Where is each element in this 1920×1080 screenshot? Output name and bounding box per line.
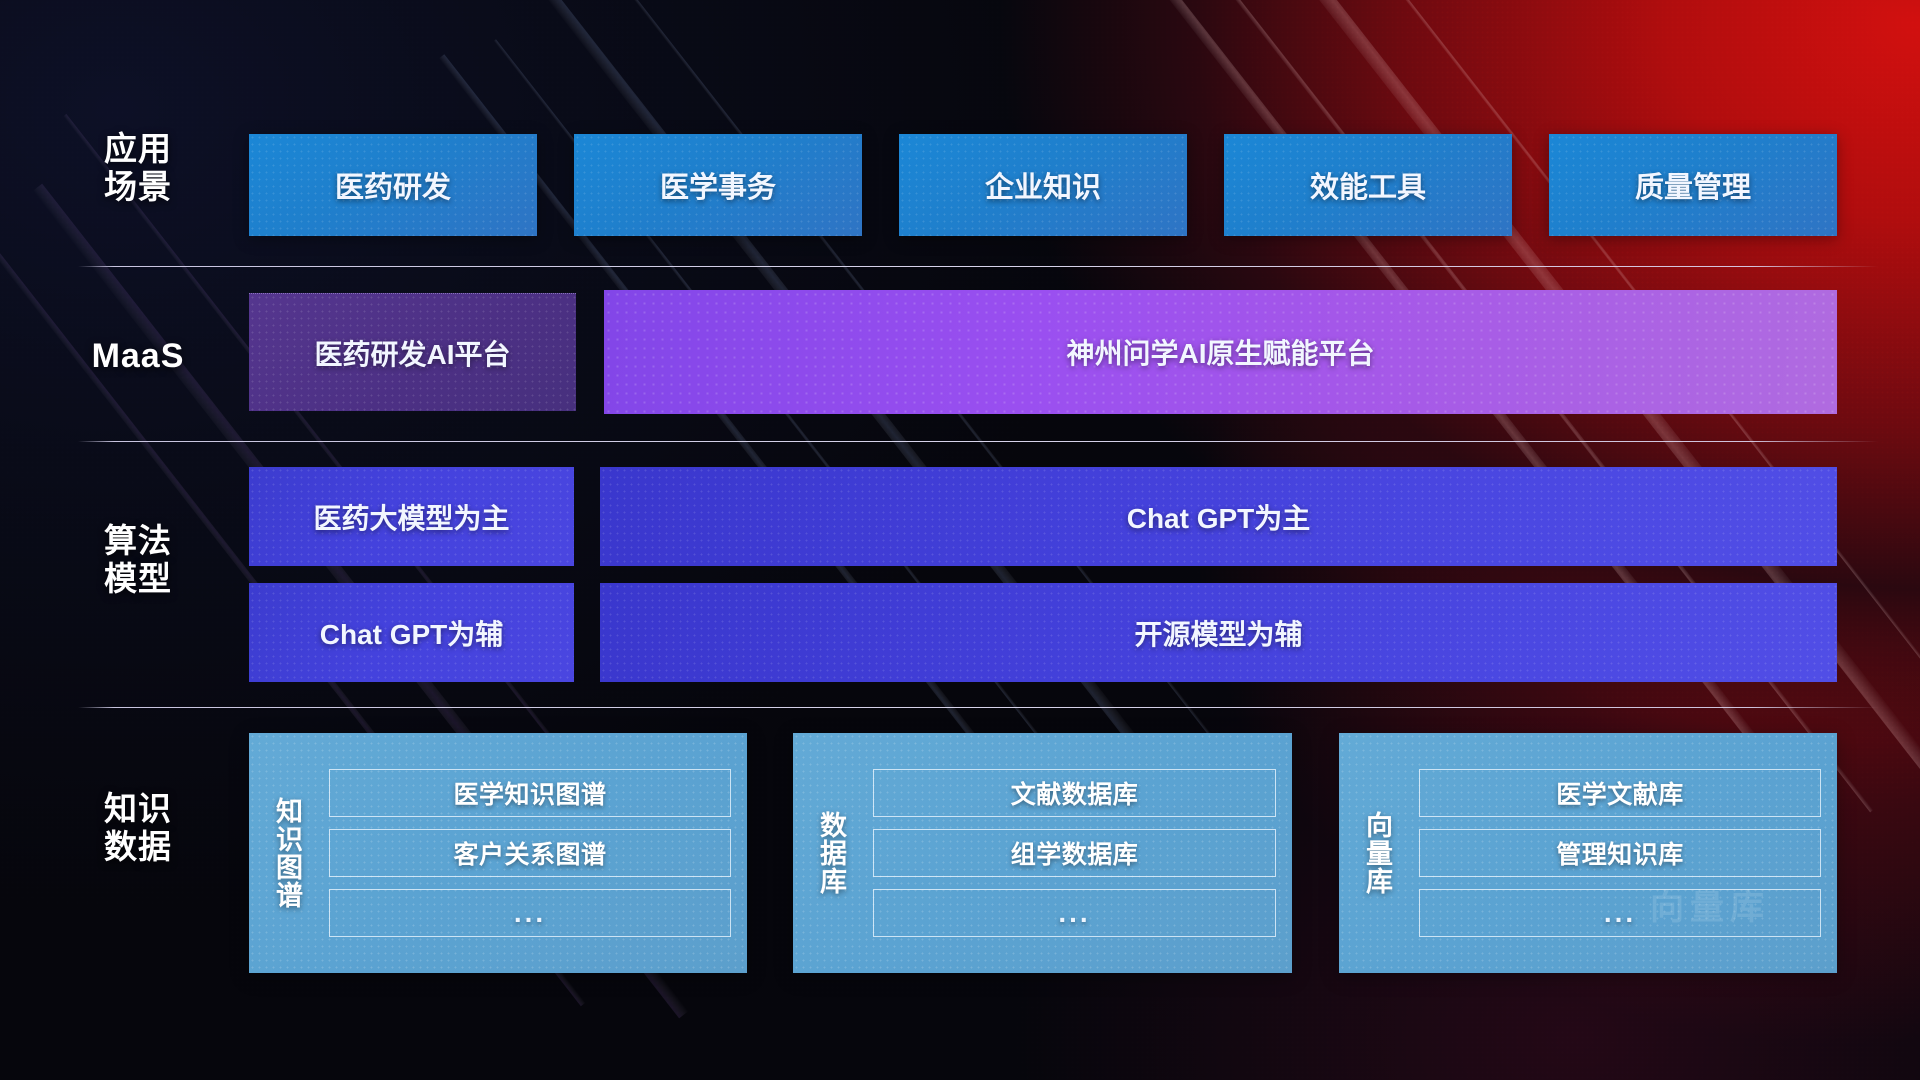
knowledge-group-items: 医学知识图谱 客户关系图谱 ... bbox=[323, 733, 747, 973]
knowledge-group-items: 医学文献库 管理知识库 ... bbox=[1413, 733, 1837, 973]
algo-box-drug-large-model-primary[interactable]: 医药大模型为主 bbox=[249, 467, 574, 566]
knowledge-item[interactable]: 客户关系图谱 bbox=[329, 829, 731, 877]
app-box-label: 医学事务 bbox=[660, 164, 776, 206]
algo-box-chatgpt-primary[interactable]: Chat GPT为主 bbox=[600, 467, 1837, 566]
knowledge-group-database[interactable]: 数据库 文献数据库 组学数据库 ... bbox=[793, 733, 1292, 973]
app-box-quality-management[interactable]: 质量管理 bbox=[1549, 134, 1837, 236]
app-box-enterprise-knowledge[interactable]: 企业知识 bbox=[899, 134, 1187, 236]
knowledge-item-label: 医学文献库 bbox=[1556, 775, 1684, 811]
knowledge-item-label: 客户关系图谱 bbox=[453, 835, 606, 871]
knowledge-item-more[interactable]: ... bbox=[873, 889, 1276, 937]
knowledge-item-label: ... bbox=[1604, 897, 1636, 929]
app-box-label: 企业知识 bbox=[985, 164, 1101, 206]
row-label-maas: MaaS bbox=[78, 337, 198, 376]
algo-box-open-source-secondary[interactable]: 开源模型为辅 bbox=[600, 583, 1837, 682]
algo-box-label: Chat GPT为辅 bbox=[320, 613, 504, 653]
divider-after-algorithm-row bbox=[78, 707, 1878, 708]
knowledge-item[interactable]: 管理知识库 bbox=[1419, 829, 1821, 877]
algo-box-label: 开源模型为辅 bbox=[1134, 613, 1302, 653]
knowledge-group-items: 文献数据库 组学数据库 ... bbox=[867, 733, 1292, 973]
maas-box-label: 神州问学AI原生赋能平台 bbox=[1066, 332, 1374, 372]
knowledge-group-knowledge-graph[interactable]: 知识图谱 医学知识图谱 客户关系图谱 ... bbox=[249, 733, 747, 973]
knowledge-group-vector-database[interactable]: 向量库 医学文献库 管理知识库 ... bbox=[1339, 733, 1837, 973]
knowledge-group-label: 数据库 bbox=[793, 733, 867, 973]
maas-box-label: 医药研发AI平台 bbox=[314, 333, 510, 373]
knowledge-item[interactable]: 医学知识图谱 bbox=[329, 769, 731, 817]
app-box-drug-rd[interactable]: 医药研发 bbox=[249, 134, 537, 236]
knowledge-item-label: 医学知识图谱 bbox=[453, 775, 606, 811]
app-box-efficiency-tools[interactable]: 效能工具 bbox=[1224, 134, 1512, 236]
knowledge-item-label: 文献数据库 bbox=[1011, 775, 1139, 811]
algo-box-label: 医药大模型为主 bbox=[313, 497, 509, 537]
algo-box-chatgpt-secondary[interactable]: Chat GPT为辅 bbox=[249, 583, 574, 682]
knowledge-group-label: 向量库 bbox=[1339, 733, 1413, 973]
knowledge-group-label: 知识图谱 bbox=[249, 733, 323, 973]
knowledge-item-more[interactable]: ... bbox=[329, 889, 731, 937]
knowledge-item-label: ... bbox=[514, 897, 546, 929]
app-box-medical-affairs[interactable]: 医学事务 bbox=[574, 134, 862, 236]
knowledge-item-label: ... bbox=[1058, 897, 1090, 929]
row-label-application-scenario: 应用 场景 bbox=[78, 130, 198, 207]
app-box-label: 医药研发 bbox=[335, 164, 451, 206]
knowledge-item-label: 管理知识库 bbox=[1556, 835, 1684, 871]
divider-after-maas-row bbox=[78, 441, 1878, 442]
maas-box-shenzhou-wenxue-platform[interactable]: 神州问学AI原生赋能平台 bbox=[604, 290, 1837, 414]
knowledge-item[interactable]: 文献数据库 bbox=[873, 769, 1276, 817]
knowledge-item[interactable]: 医学文献库 bbox=[1419, 769, 1821, 817]
architecture-diagram: 应用 场景 医药研发 医学事务 企业知识 效能工具 质量管理 MaaS 医药研发… bbox=[0, 0, 1920, 1080]
divider-after-application-row bbox=[78, 266, 1878, 267]
algo-box-label: Chat GPT为主 bbox=[1127, 497, 1311, 537]
row-label-knowledge-data: 知识 数据 bbox=[78, 790, 198, 867]
app-box-label: 质量管理 bbox=[1635, 164, 1751, 206]
knowledge-item-label: 组学数据库 bbox=[1011, 835, 1139, 871]
knowledge-item[interactable]: 组学数据库 bbox=[873, 829, 1276, 877]
maas-box-drug-rd-ai-platform[interactable]: 医药研发AI平台 bbox=[249, 293, 576, 411]
app-box-label: 效能工具 bbox=[1310, 164, 1426, 206]
knowledge-item-more[interactable]: ... bbox=[1419, 889, 1821, 937]
row-label-algorithm-model: 算法 模型 bbox=[78, 522, 198, 599]
